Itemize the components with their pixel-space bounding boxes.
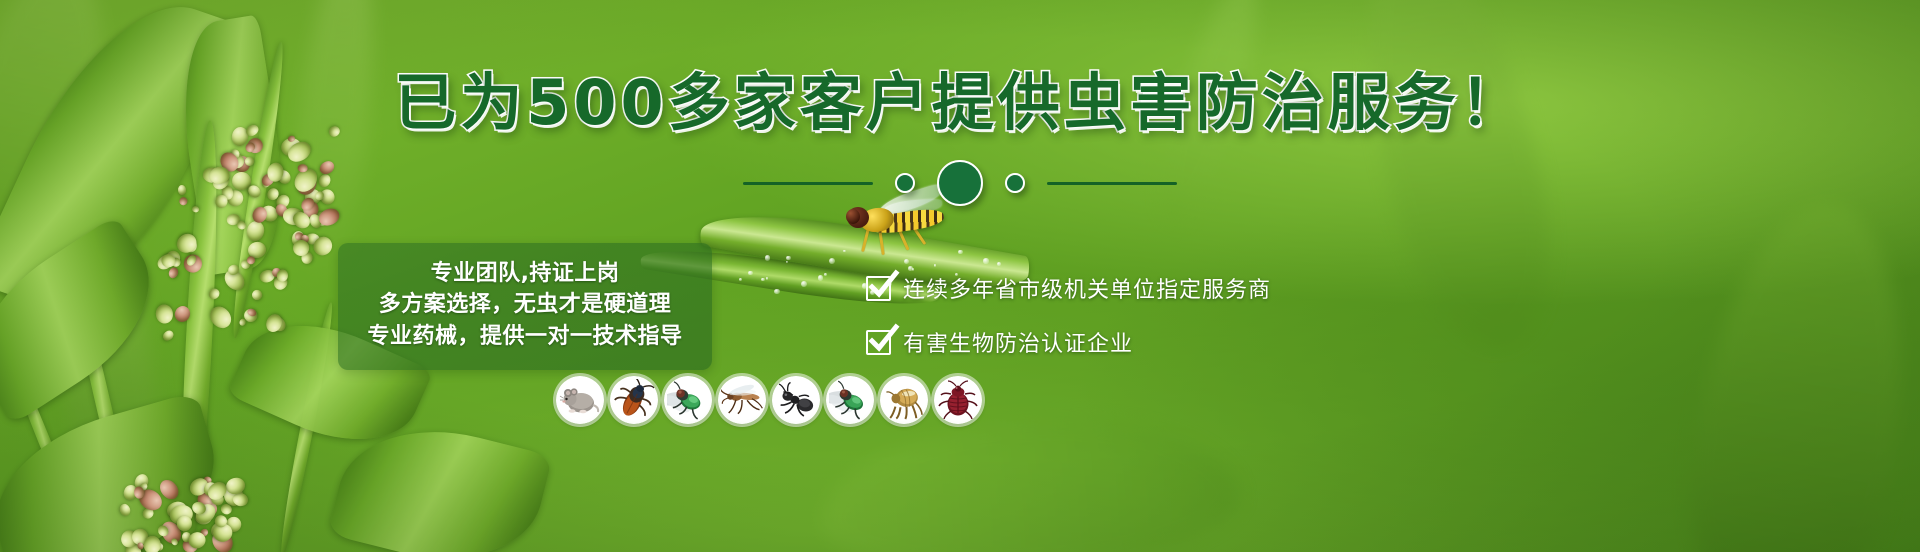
dew-droplet [829,258,835,264]
ant-icon[interactable] [772,376,820,424]
page-title: 已为500多家客户提供虫害防治服务！ [0,72,1920,134]
cockroach-icon[interactable] [610,376,658,424]
decoration-dot-small-right [1005,173,1025,193]
decoration-dot-large [937,160,983,206]
flea-icon[interactable] [880,376,928,424]
checkbox-checked-icon [866,330,891,355]
dew-droplet [862,283,867,288]
credential-label: 有害生物防治认证企业 [903,326,1133,358]
fly-icon[interactable] [664,376,712,424]
selling-point-line-2: 多方案选择，无虫才是硬道理 [379,291,672,319]
dew-droplet [983,258,989,264]
dew-droplet [774,289,779,294]
mouse-icon[interactable] [556,376,604,424]
pest-control-hero-banner: 已为500多家客户提供虫害防治服务！ 专业团队,持证上岗 多方案选择，无虫才是硬… [0,0,1920,552]
bedbug-icon[interactable] [934,376,982,424]
dew-droplet [801,281,807,287]
dew-droplet [870,290,875,295]
dew-droplet [739,278,742,281]
credential-label: 连续多年省市级机关单位指定服务商 [903,272,1271,304]
dew-droplet [906,285,911,290]
dew-droplet [748,271,752,275]
decoration-line-left [743,182,873,185]
dew-droplet [887,282,892,287]
list-item: 有害生物防治认证企业 [866,326,1271,358]
credentials-list: 连续多年省市级机关单位指定服务商 有害生物防治认证企业 [866,272,1271,358]
dew-droplet [904,259,909,264]
mosquito-icon[interactable] [718,376,766,424]
dew-droplet [765,255,770,260]
fly-icon[interactable] [826,376,874,424]
dew-droplet [786,256,790,260]
pest-types-row [556,376,982,424]
decoration-line-right [1047,182,1177,185]
checkbox-checked-icon [866,276,891,301]
decoration-dot-small-left [895,173,915,193]
dew-droplet [824,273,827,276]
list-item: 连续多年省市级机关单位指定服务商 [866,272,1271,304]
selling-point-line-1: 专业团队,持证上岗 [431,260,620,288]
dew-droplet [908,266,913,271]
selling-point-line-3: 专业药械，提供一对一技术指导 [367,323,682,351]
dew-droplet [958,250,963,255]
selling-points-panel: 专业团队,持证上岗 多方案选择，无虫才是硬道理 专业药械，提供一对一技术指导 [338,243,712,370]
